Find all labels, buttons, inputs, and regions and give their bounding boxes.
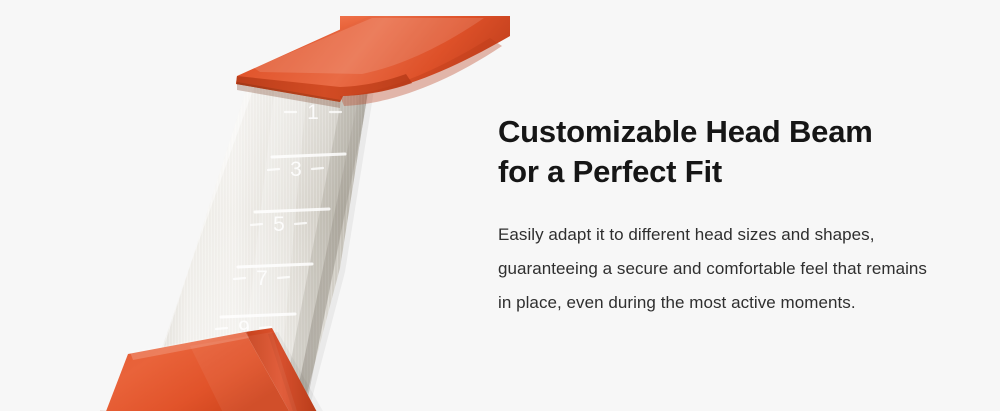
scale-number-1: 1	[307, 101, 319, 124]
scale-number-7: 7	[256, 267, 268, 290]
product-feature-banner: 1 3 5 7 9	[0, 0, 1000, 411]
feature-description: Easily adapt it to different head sizes …	[498, 192, 958, 320]
copy-block: Customizable Head Beam for a Perfect Fit…	[498, 112, 958, 320]
headband-illustration: 1 3 5 7 9	[40, 16, 510, 411]
product-image: 1 3 5 7 9	[40, 16, 510, 411]
scale-number-5: 5	[273, 213, 285, 236]
page-title: Customizable Head Beam for a Perfect Fit	[498, 112, 958, 192]
scale-number-3: 3	[290, 158, 302, 181]
